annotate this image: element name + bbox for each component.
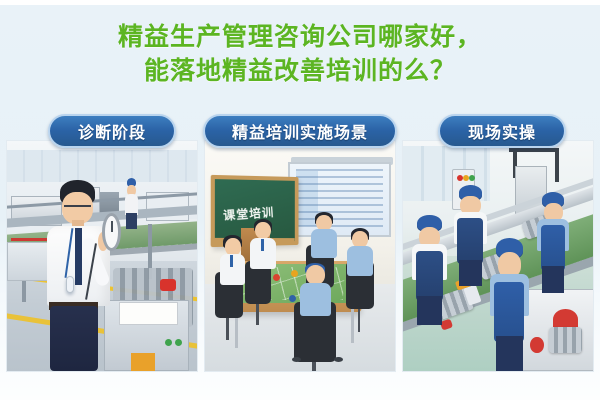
- badge-diagnosis[interactable]: 诊断阶段: [48, 114, 176, 148]
- background-worker: [123, 178, 140, 229]
- status-led: [175, 339, 182, 346]
- table-leg: [351, 309, 354, 344]
- scene-classroom-training: 课堂培训: [205, 141, 395, 371]
- projector-screen: [288, 162, 391, 237]
- trainee-head: [306, 265, 325, 284]
- worker-figure: [489, 238, 531, 371]
- trainee-figure: [218, 238, 247, 298]
- floor-crate: [131, 353, 156, 371]
- worker-legs: [542, 266, 565, 292]
- page-title: 精益生产管理咨询公司哪家好， 能落地精益改善培训的么？: [0, 20, 600, 88]
- trainee-torso: [347, 246, 373, 276]
- worker-figure: [452, 185, 488, 286]
- worker-legs: [459, 260, 483, 286]
- scene-consultant-stopwatch: [7, 141, 197, 371]
- poster-root: 精益生产管理咨询公司哪家好， 能落地精益改善培训的么？: [0, 0, 600, 400]
- worker-overalls: [494, 282, 524, 342]
- badge-training-scene[interactable]: 精益培训实施场景: [203, 114, 397, 148]
- lanyard: [230, 255, 233, 267]
- status-led: [165, 339, 172, 346]
- page-title-line-2: 能落地精益改善培训的么？: [0, 54, 600, 88]
- worker-body: [125, 194, 139, 214]
- id-badge: [66, 276, 75, 293]
- worker-legs: [496, 336, 524, 371]
- panel-shopfloor-practice[interactable]: [402, 140, 594, 372]
- trainee-figure: [249, 222, 278, 282]
- worker-legs: [126, 213, 137, 229]
- panel-diagnosis[interactable]: [6, 140, 198, 372]
- panel-training[interactable]: 课堂培训: [204, 140, 396, 372]
- consultant-figure: [39, 180, 119, 371]
- stopwatch-icon: [102, 213, 122, 251]
- lanyard: [261, 239, 264, 251]
- game-piece: [291, 270, 298, 277]
- trainee-figure: [310, 215, 339, 270]
- worker-figure: [411, 215, 449, 325]
- worker-overalls: [457, 218, 483, 264]
- badge-onsite-practice[interactable]: 现场实操: [438, 114, 566, 148]
- glasses-icon: [64, 205, 91, 213]
- overhead-pipe: [555, 148, 559, 183]
- motor-assembly: [549, 327, 581, 352]
- scene-assembly-line-practice: [403, 141, 593, 371]
- panel-caption-row: 诊断阶段 精益培训实施场景 现场实操: [0, 114, 600, 150]
- worker-figure: [536, 192, 570, 293]
- trainee-torso: [300, 283, 331, 316]
- indicator-light: [469, 175, 475, 181]
- factory-windows: [7, 150, 197, 182]
- page-title-line-1: 精益生产管理咨询公司哪家好，: [0, 20, 600, 54]
- consultant-tie: [75, 228, 81, 285]
- trainee-figure: [298, 265, 332, 329]
- trainee-head: [255, 222, 271, 240]
- worker-overalls: [416, 251, 443, 301]
- game-piece: [289, 295, 296, 302]
- motor-housing: [530, 337, 543, 353]
- trainee-torso: [311, 229, 337, 258]
- consultant-trousers: [50, 306, 98, 371]
- image-panel-row: 课堂培训: [6, 140, 594, 372]
- trainee-head: [225, 238, 241, 256]
- worker-overalls: [541, 225, 566, 271]
- emergency-stop-button: [160, 279, 176, 291]
- trainee-figure: [346, 231, 375, 289]
- paper-document: [119, 302, 178, 325]
- worker-legs: [417, 296, 442, 325]
